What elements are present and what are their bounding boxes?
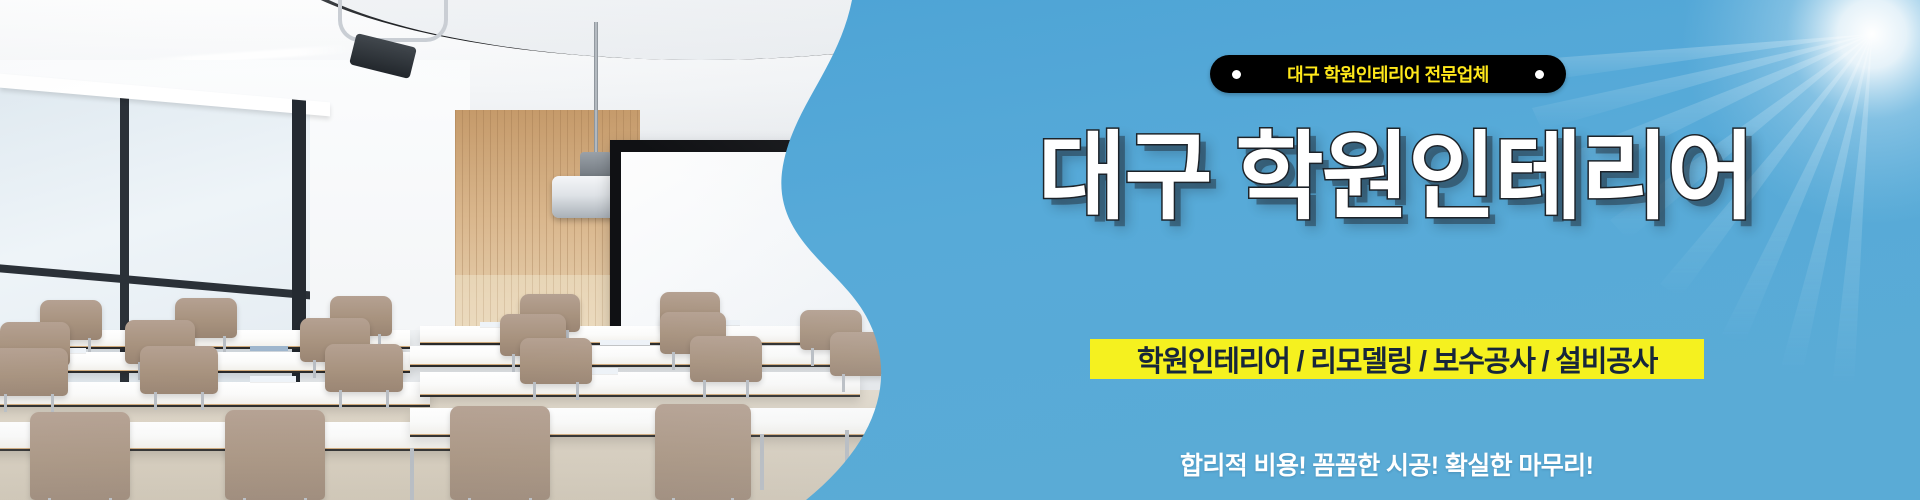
- services-highlight-label: 학원인테리어 / 리모델링 / 보수공사 / 설비공사: [1137, 338, 1657, 380]
- promo-badge-label: 대구 학원인테리어 전문업체: [1287, 61, 1489, 87]
- tagline-text: 합리적 비용! 꼼꼼한 시공! 확실한 마무리!: [1180, 446, 1593, 482]
- headline-title: 대구 학원인테리어: [1038, 128, 1753, 229]
- promo-banner: 대구 학원인테리어 전문업체 대구 학원인테리어 학원인테리어 / 리모델링 /…: [0, 0, 1920, 500]
- services-highlight-bar: 학원인테리어 / 리모델링 / 보수공사 / 설비공사: [1090, 339, 1704, 379]
- badge-dot-right-icon: [1535, 70, 1544, 79]
- badge-dot-left-icon: [1232, 70, 1241, 79]
- promo-badge: 대구 학원인테리어 전문업체: [1210, 55, 1566, 93]
- banner-content: 대구 학원인테리어 전문업체 대구 학원인테리어 학원인테리어 / 리모델링 /…: [0, 0, 1920, 500]
